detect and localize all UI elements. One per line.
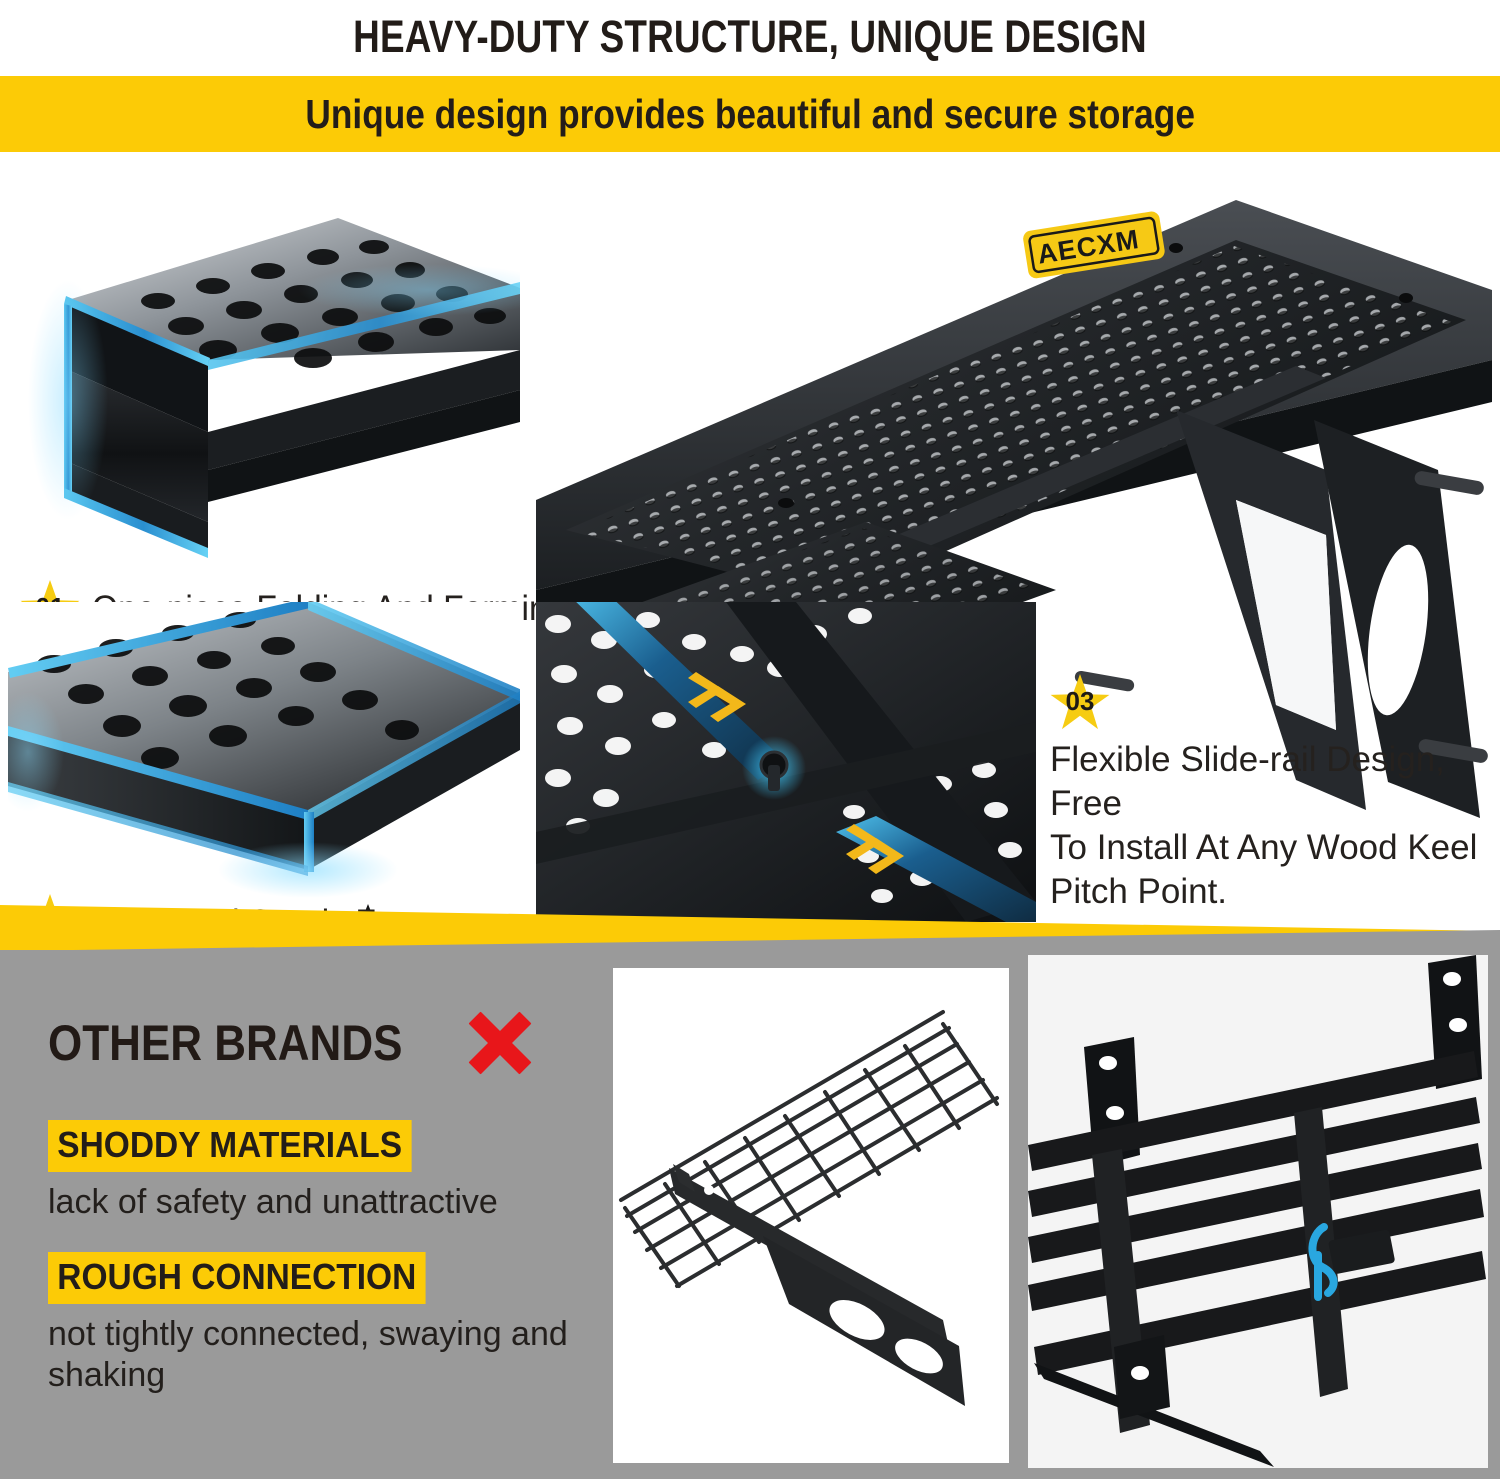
subtitle-text: Unique design provides beautiful and sec… xyxy=(305,91,1195,138)
subtitle-bar: Unique design provides beautiful and sec… xyxy=(0,76,1500,152)
other-brand-wire-mesh-photo xyxy=(613,968,1009,1463)
panel-thick-frame-photo xyxy=(8,602,520,922)
features-section: 01 One-piece Folding And Forming xyxy=(0,152,1500,930)
feature-description-line: Flexible Slide-rail Design, Free xyxy=(1050,738,1490,826)
comparison-item-body: lack of safety and unattractive xyxy=(48,1182,498,1223)
page-title: HEAVY-DUTY STRUCTURE, UNIQUE DESIGN xyxy=(135,0,1365,74)
red-x-icon xyxy=(469,1012,531,1074)
comparison-title: OTHER BRANDS xyxy=(48,1014,402,1072)
comparison-item: SHODDY MATERIALS lack of safety and unat… xyxy=(48,1120,498,1223)
feature-description: Flexible Slide-rail Design, Free To Inst… xyxy=(1050,738,1490,914)
comparison-item: ROUGH CONNECTION not tightly connected, … xyxy=(48,1252,608,1397)
comparison-item-body: not tightly connected, swaying and shaki… xyxy=(48,1314,608,1397)
comparison-title-row: OTHER BRANDS xyxy=(48,1012,531,1074)
panel-slide-rail-photo xyxy=(536,602,1036,922)
other-brand-slat-shelf-photo xyxy=(1028,955,1488,1468)
feature-description-line: To Install At Any Wood Keel xyxy=(1050,826,1490,870)
infographic-page: HEAVY-DUTY STRUCTURE, UNIQUE DESIGN Uniq… xyxy=(0,0,1500,1479)
star-badge-icon: 03 xyxy=(1050,674,1110,732)
feature-number: 03 xyxy=(1066,688,1095,714)
feature-description-line: Pitch Point. xyxy=(1050,870,1490,914)
feature-caption-03: 03 Flexible Slide-rail Design, Free To I… xyxy=(1050,674,1490,914)
comparison-item-heading: ROUGH CONNECTION xyxy=(48,1252,426,1304)
panel-one-piece-folding-photo xyxy=(8,170,520,574)
comparison-item-heading: SHODDY MATERIALS xyxy=(48,1120,411,1172)
